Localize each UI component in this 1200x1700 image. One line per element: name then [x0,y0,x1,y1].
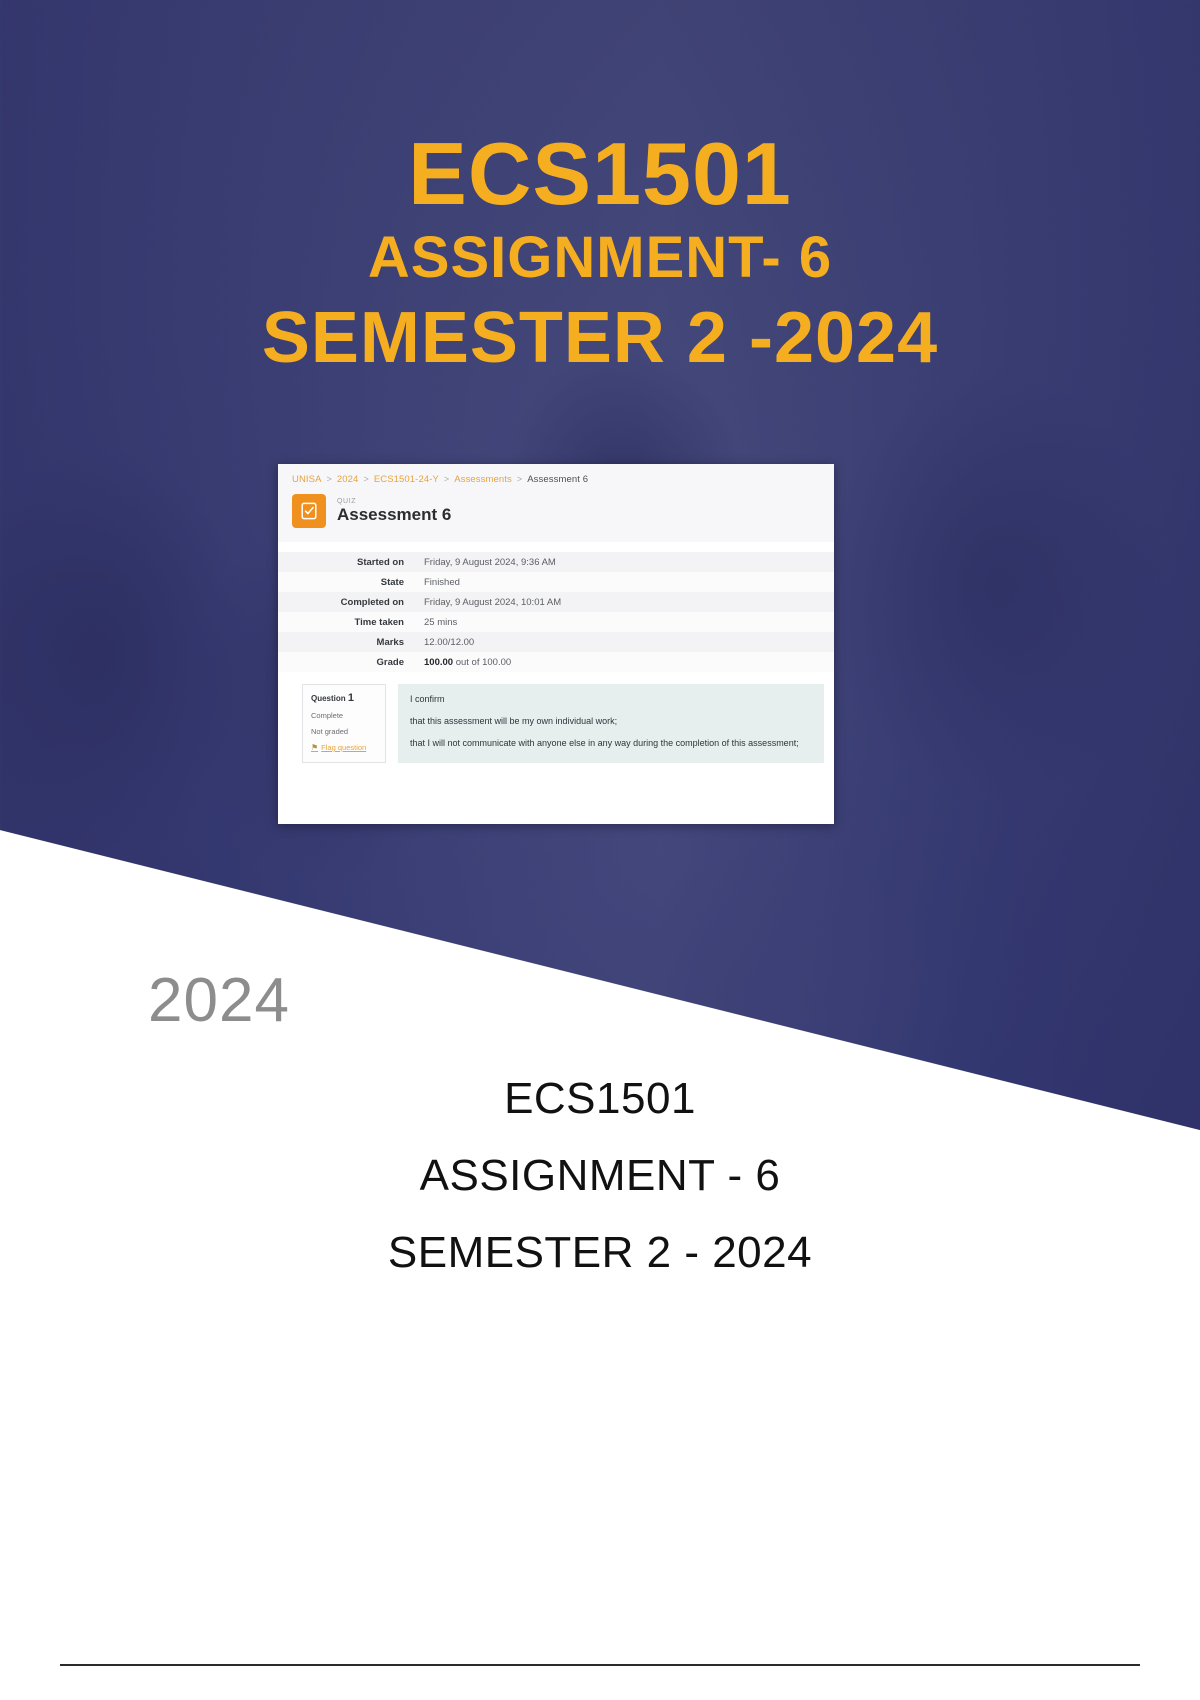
table-row: Started on Friday, 9 August 2024, 9:36 A… [278,552,834,572]
quiz-meta: QUIZ Assessment 6 [337,498,451,525]
info-value: 12.00/12.00 [412,632,834,652]
lower-semester: SEMESTER 2 - 2024 [0,1214,1200,1291]
question-line: I confirm [410,693,812,706]
breadcrumb: UNISA>2024>ECS1501-24-Y>Assessments>Asse… [292,474,820,485]
breadcrumb-separator: > [327,474,332,484]
lower-course-code: ECS1501 [0,1060,1200,1137]
table-row: Marks 12.00/12.00 [278,632,834,652]
question-number: Question 1 [311,692,377,704]
info-label: Started on [278,552,412,572]
question-number-value: 1 [348,692,354,704]
flag-question-label: Flag question [321,743,366,752]
course-code-title: ECS1501 [0,130,1200,218]
lower-title-block: ECS1501 ASSIGNMENT - 6 SEMESTER 2 - 2024 [0,1060,1200,1291]
info-value: Friday, 9 August 2024, 9:36 AM [412,552,834,572]
question-grade-state: Not graded [311,727,377,736]
quiz-check-icon [292,494,326,528]
grade-value-cell: 100.00 out of 100.00 [412,652,834,672]
table-row-grade: Grade 100.00 out of 100.00 [278,652,834,672]
info-label: Completed on [278,592,412,612]
quiz-title-row: QUIZ Assessment 6 [292,494,820,536]
breadcrumb-item-2024[interactable]: 2024 [337,474,359,485]
grade-label: Grade [278,652,412,672]
info-value: Finished [412,572,834,592]
grade-suffix: out of 100.00 [456,657,511,668]
info-label: Marks [278,632,412,652]
question-info-panel: Question 1 Complete Not graded ⚑ Flag qu… [302,684,386,763]
info-label: Time taken [278,612,412,632]
question-line: that I will not communicate with anyone … [410,737,812,750]
breadcrumb-separator: > [517,474,522,484]
quiz-type-label: QUIZ [337,498,451,505]
cover-page: ECS1501 ASSIGNMENT- 6 SEMESTER 2 -2024 U… [0,0,1200,1700]
quiz-name: Assessment 6 [337,506,451,525]
flag-question-link[interactable]: ⚑ Flag question [311,743,377,752]
table-row: State Finished [278,572,834,592]
breadcrumb-separator: > [363,474,368,484]
question-line: that this assessment will be my own indi… [410,715,812,728]
breadcrumb-current: Assessment 6 [527,474,588,485]
info-value: 25 mins [412,612,834,632]
lower-assignment: ASSIGNMENT - 6 [0,1137,1200,1214]
table-row: Time taken 25 mins [278,612,834,632]
flag-icon: ⚑ [311,743,318,752]
assignment-subtitle: ASSIGNMENT- 6 [0,228,1200,289]
attempt-info-table: Started on Friday, 9 August 2024, 9:36 A… [278,552,834,672]
question-text-panel: I confirm that this assessment will be m… [398,684,824,763]
breadcrumb-item-assessments[interactable]: Assessments [454,474,512,485]
breadcrumb-item-course[interactable]: ECS1501-24-Y [374,474,439,485]
question-state: Complete [311,711,377,720]
quiz-header: UNISA>2024>ECS1501-24-Y>Assessments>Asse… [278,464,834,542]
semester-title: SEMESTER 2 -2024 [0,301,1200,377]
cover-titles: ECS1501 ASSIGNMENT- 6 SEMESTER 2 -2024 [0,130,1200,376]
grade-value: 100.00 [424,657,453,668]
info-label: State [278,572,412,592]
breadcrumb-separator: > [444,474,449,484]
footer-divider [60,1664,1140,1666]
question-block: Question 1 Complete Not graded ⚑ Flag qu… [302,684,824,763]
breadcrumb-item-unisa[interactable]: UNISA [292,474,322,485]
quiz-summary-body: Started on Friday, 9 August 2024, 9:36 A… [278,542,834,763]
table-row: Completed on Friday, 9 August 2024, 10:0… [278,592,834,612]
info-value: Friday, 9 August 2024, 10:01 AM [412,592,834,612]
year-label: 2024 [148,965,290,1036]
moodle-quiz-screenshot: UNISA>2024>ECS1501-24-Y>Assessments>Asse… [278,464,834,824]
question-number-label: Question [311,694,346,703]
